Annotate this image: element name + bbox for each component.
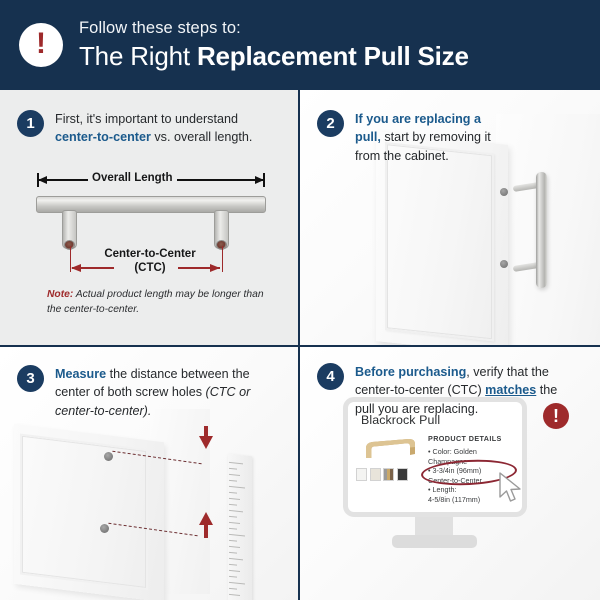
header-kicker: Follow these steps to: xyxy=(79,18,469,39)
swatch-3[interactable] xyxy=(383,468,394,481)
step-3-head: 3 Measure the distance between the cente… xyxy=(17,365,270,420)
note-text: Actual product length may be longer than… xyxy=(47,289,264,315)
screw-hole-bottom xyxy=(500,260,508,268)
infographic-page: ! Follow these steps to: The Right Repla… xyxy=(0,0,600,600)
title-light: The Right xyxy=(79,41,197,71)
swatch-2[interactable] xyxy=(370,468,381,481)
header-bang-glyph: ! xyxy=(36,29,46,59)
step-4-link[interactable]: matches xyxy=(485,383,536,397)
step-3-copy: Measure the distance between the center … xyxy=(55,365,270,420)
screw-hole-lower xyxy=(100,524,109,533)
mouse-cursor-icon xyxy=(498,472,524,504)
step-1-copy: First, it's important to understand cent… xyxy=(55,110,270,147)
step-4-number: 4 xyxy=(317,363,344,390)
product-details-heading: PRODUCT DETAILS xyxy=(428,434,502,443)
ruler-graphic xyxy=(228,454,252,600)
cabinet-door-panel xyxy=(14,424,164,600)
title-bold: Replacement Pull Size xyxy=(197,41,469,71)
note-label: Note: xyxy=(47,289,73,300)
swatch-4[interactable] xyxy=(397,468,408,481)
cabinet-frame xyxy=(496,114,600,345)
panel-step-3: 3 Measure the distance between the cente… xyxy=(0,347,298,600)
panel-step-2: 2 If you are replacing a pull, start by … xyxy=(300,90,600,345)
step-1-head: 1 First, it's important to understand ce… xyxy=(17,110,270,147)
swatch-1[interactable] xyxy=(356,468,367,481)
color-swatches[interactable] xyxy=(356,468,408,481)
page-header: ! Follow these steps to: The Right Repla… xyxy=(0,0,600,90)
panel-step-4: Blackrock Pull PRODUCT DETAILS • Color: … xyxy=(300,347,600,600)
product-pull-image xyxy=(362,435,420,461)
page-title: The Right Replacement Pull Size xyxy=(79,41,469,72)
bar-pull-handle xyxy=(536,172,547,288)
arrow-up-icon xyxy=(199,512,213,525)
header-text-block: Follow these steps to: The Right Replace… xyxy=(79,18,469,72)
product-bullet-length: • Length: 4-5/8in (117mm) xyxy=(428,485,480,504)
step-2-number: 2 xyxy=(317,110,344,137)
overall-arrow-left-icon xyxy=(38,176,47,184)
diagram-note: Note: Actual product length may be longe… xyxy=(47,287,267,318)
step-2-copy: If you are replacing a pull, start by re… xyxy=(355,110,507,165)
monitor-neck xyxy=(415,517,453,537)
panel-step-1: 1 First, it's important to understand ce… xyxy=(0,90,298,345)
ctc-label-line-2: (CTC) xyxy=(26,262,274,274)
steps-grid: 1 First, it's important to understand ce… xyxy=(0,90,600,600)
screw-hole-upper xyxy=(104,452,113,461)
step-1-tail: vs. overall length. xyxy=(151,130,253,144)
horizontal-divider xyxy=(0,345,600,347)
overall-arrow-right-icon xyxy=(255,176,264,184)
arrow-down-icon xyxy=(199,436,213,449)
step-1-lead: First, it's important to understand xyxy=(55,112,238,126)
step-1-number: 1 xyxy=(17,110,44,137)
pull-measurement-diagram: Overall Length Center-to-Center (CTC) xyxy=(26,172,274,284)
alert-exclamation-icon: ! xyxy=(19,23,63,67)
step-1-highlight: center-to-center xyxy=(55,130,151,144)
step-3-highlight: Measure xyxy=(55,367,106,381)
step-2-head: 2 If you are replacing a pull, start by … xyxy=(317,110,507,165)
overall-length-label: Overall Length xyxy=(88,172,177,184)
ctc-label-line-1: Center-to-Center xyxy=(26,248,274,260)
step-3-number: 3 xyxy=(17,365,44,392)
step-4-highlight: Before purchasing xyxy=(355,365,466,379)
screw-hole-top xyxy=(500,188,508,196)
step-4-head: 4 Before purchasing, verify that the cen… xyxy=(317,363,570,418)
monitor-base xyxy=(392,535,477,548)
arrow-stem-up xyxy=(204,524,208,538)
step-4-copy: Before purchasing, verify that the cente… xyxy=(355,363,570,418)
